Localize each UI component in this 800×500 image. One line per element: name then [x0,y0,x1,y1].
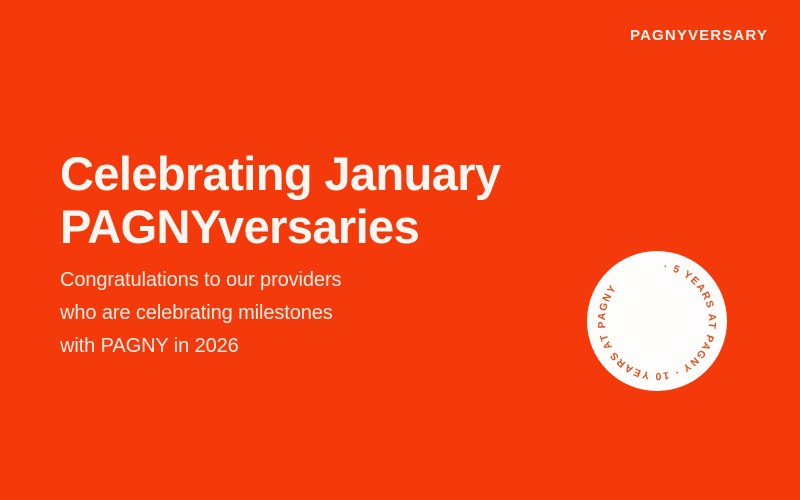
anniversary-badge: · 5 YEARS AT PAGNY · 10 YEARS AT PAGNY [587,251,727,391]
subheading-line-2: who are celebrating milestones [60,297,480,330]
subheading-line-3: with PAGNY in 2026 [60,330,480,363]
celebration-banner: PAGNYVERSARY Celebrating January PAGNYve… [0,0,800,500]
subheading: Congratulations to our providers who are… [60,264,480,363]
headline: Celebrating January PAGNYversaries [60,148,580,253]
headline-line-2: PAGNYversaries [60,201,580,254]
subheading-line-1: Congratulations to our providers [60,264,480,297]
headline-line-1: Celebrating January [60,148,580,201]
brand-wordmark: PAGNYVERSARY [630,28,768,43]
badge-disc [587,251,727,391]
